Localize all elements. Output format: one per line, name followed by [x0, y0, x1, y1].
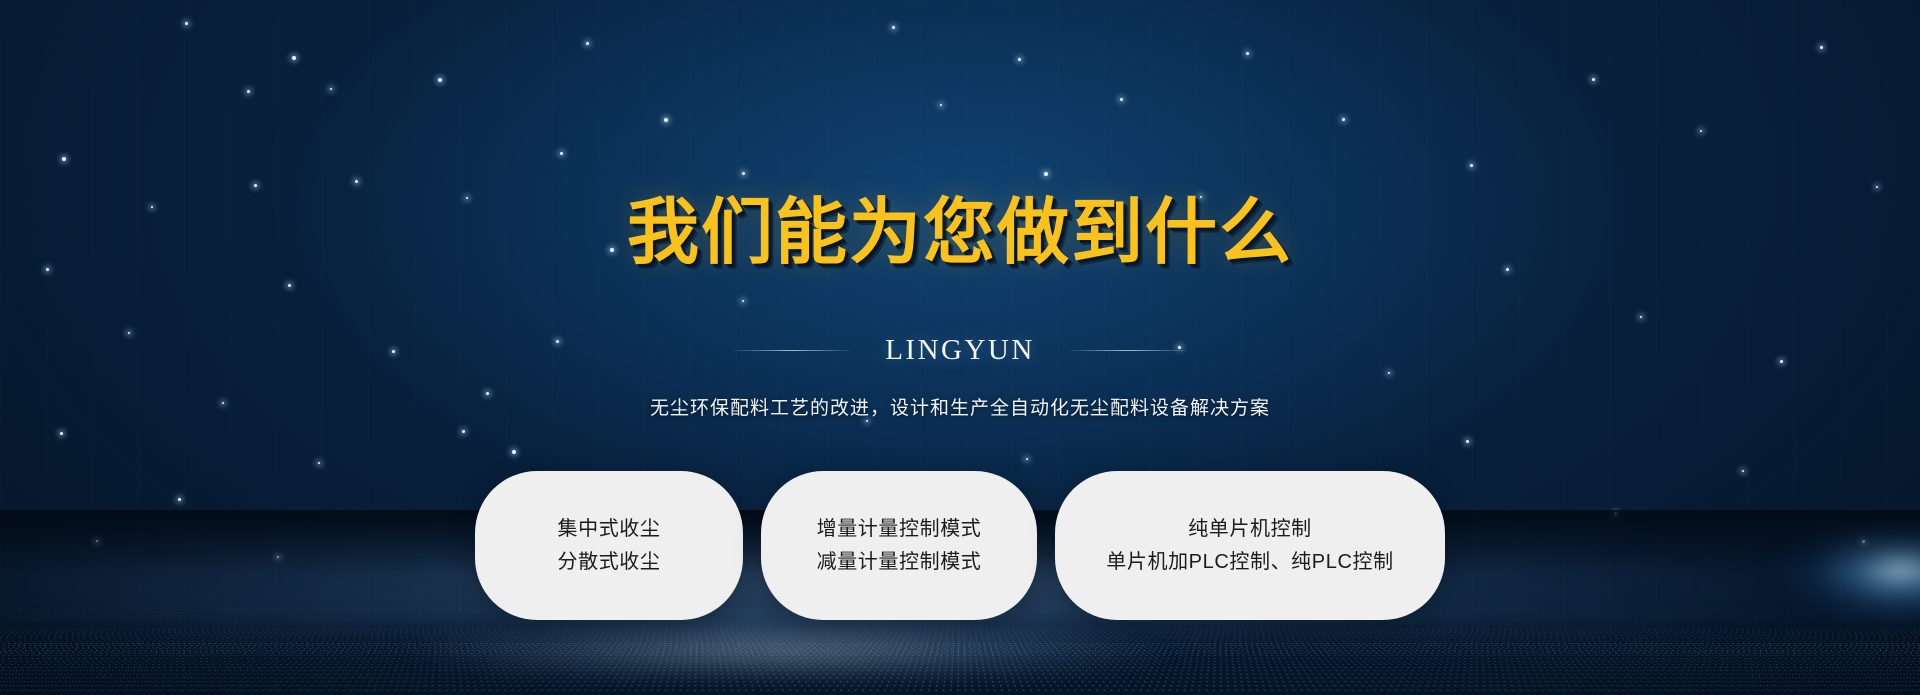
divider-right: [1069, 350, 1187, 351]
card-line: 减量计量控制模式: [817, 552, 982, 572]
brand-name-en: LINGYUN: [885, 334, 1035, 367]
divider-left: [733, 350, 851, 351]
banner-description: 无尘环保配料工艺的改进，设计和生产全自动化无尘配料设备解决方案: [650, 393, 1270, 420]
card-line: 增量计量控制模式: [817, 519, 982, 539]
page-title: 我们能为您做到什么: [627, 196, 1293, 268]
feature-card-metering-mode[interactable]: 增量计量控制模式 减量计量控制模式: [761, 471, 1037, 620]
feature-card-dust-collection[interactable]: 集中式收尘 分散式收尘: [475, 471, 743, 620]
hero-banner: 我们能为您做到什么 LINGYUN 无尘环保配料工艺的改进，设计和生产全自动化无…: [0, 0, 1920, 695]
brand-divider-row: LINGYUN: [733, 334, 1187, 367]
banner-content: 我们能为您做到什么 LINGYUN 无尘环保配料工艺的改进，设计和生产全自动化无…: [0, 0, 1920, 695]
card-line: 单片机加PLC控制、纯PLC控制: [1106, 552, 1393, 572]
card-line: 分散式收尘: [558, 552, 661, 572]
card-line: 集中式收尘: [558, 519, 661, 539]
feature-card-control-system[interactable]: 纯单片机控制 单片机加PLC控制、纯PLC控制: [1055, 471, 1445, 620]
feature-card-list: 集中式收尘 分散式收尘 增量计量控制模式 减量计量控制模式 纯单片机控制 单片机…: [475, 471, 1445, 620]
card-line: 纯单片机控制: [1188, 519, 1312, 539]
